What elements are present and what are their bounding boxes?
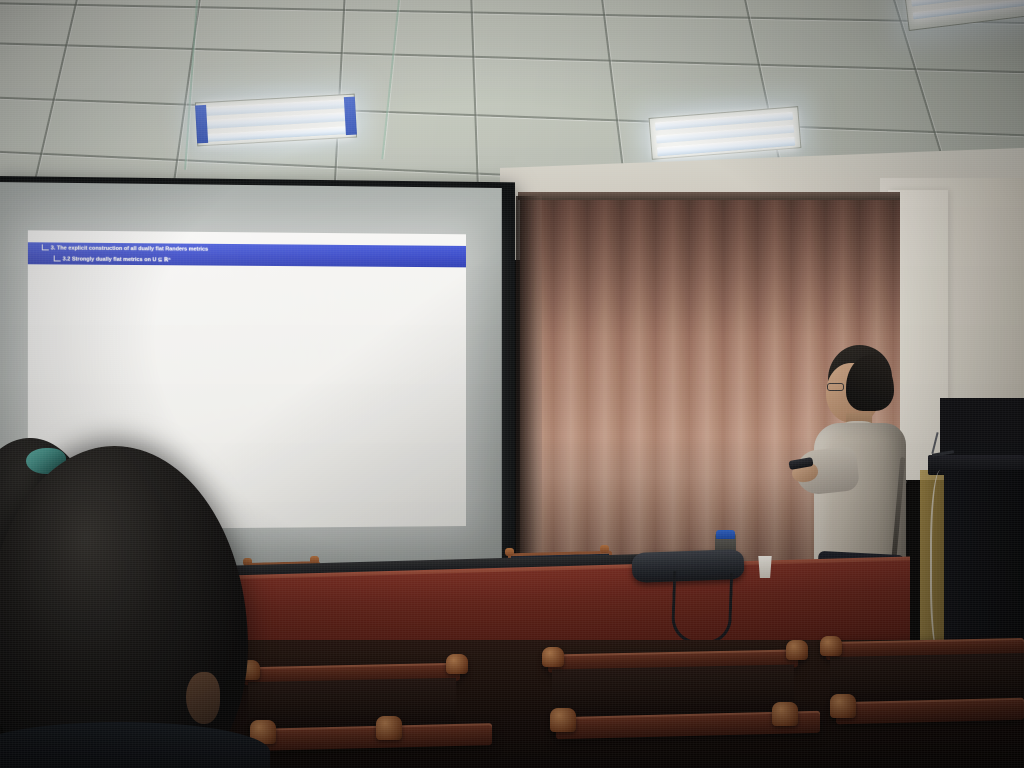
ceiling-light-left <box>195 94 357 147</box>
bottle-cap <box>716 530 735 539</box>
slide-subsection-bar: 3.2 Strongly dually flat metrics on U ⊆ … <box>28 253 466 267</box>
bench-post-cap <box>542 647 564 667</box>
chair-post-cap <box>505 548 514 556</box>
light-end-cap-left <box>195 104 208 143</box>
light-end-cap-right <box>344 96 357 135</box>
slide-section-label: 3. The explicit construction of all dual… <box>51 245 208 252</box>
curtain-left-edge <box>516 196 542 596</box>
tree-branch-icon <box>54 255 61 261</box>
tree-branch-icon <box>42 244 49 250</box>
slide-title: The Geometry of Randers manifolds <box>36 232 143 240</box>
bag-strap <box>671 571 733 645</box>
chair-post-cap <box>600 545 609 553</box>
bench-post-cap <box>550 708 576 732</box>
audience-ear <box>186 672 220 724</box>
bench-post-cap <box>376 716 402 740</box>
lecture-hall-photo: The Geometry of Randers manifolds 3. The… <box>0 0 1024 768</box>
bench-post-cap <box>772 702 798 726</box>
bench-post-cap <box>446 654 468 674</box>
slide-subsection-label: 3.2 Strongly dually flat metrics on U ⊆ … <box>63 256 171 263</box>
bench-row-front-far <box>836 698 1024 725</box>
curtain-rod <box>518 192 900 200</box>
podium-upper <box>940 398 1024 458</box>
bench-post-cap <box>820 636 842 656</box>
bench-post-cap <box>786 640 808 660</box>
bench-post-cap <box>830 694 856 718</box>
glasses-icon <box>827 383 844 391</box>
